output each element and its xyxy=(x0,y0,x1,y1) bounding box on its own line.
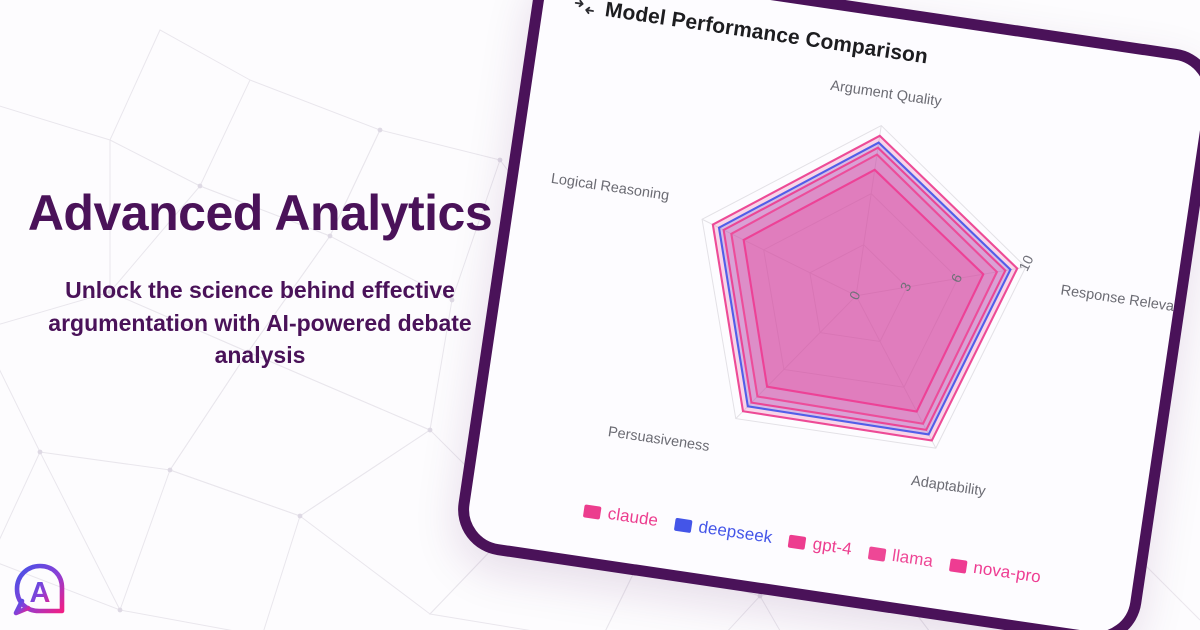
axis-label-logical-reasoning: Logical Reasoning xyxy=(550,171,670,204)
legend-item-deepseek[interactable]: deepseek xyxy=(673,514,773,548)
axis-label-response-relevance: Response Relevance xyxy=(1060,282,1199,318)
legend-label: claude xyxy=(606,504,659,531)
axis-label-persuasiveness: Persuasiveness xyxy=(607,424,711,455)
legend-item-nova-pro[interactable]: nova-pro xyxy=(948,554,1042,587)
tick-label-10: 10 xyxy=(1015,252,1036,273)
radar-series-group xyxy=(686,114,1033,450)
legend-item-gpt-4[interactable]: gpt-4 xyxy=(788,531,853,560)
legend-swatch-deepseek xyxy=(674,517,693,532)
legend-label: deepseek xyxy=(697,517,774,548)
legend-label: gpt-4 xyxy=(811,534,853,560)
legend-swatch-nova-pro xyxy=(949,558,968,573)
legend-item-claude[interactable]: claude xyxy=(583,500,660,531)
logo-letter: A xyxy=(30,577,51,609)
legend-item-llama[interactable]: llama xyxy=(867,542,934,571)
legend-swatch-gpt-4 xyxy=(788,534,807,549)
hero-banner: Advanced Analytics Unlock the science be… xyxy=(0,0,1200,630)
page-subtitle: Unlock the science behind effective argu… xyxy=(0,274,520,372)
radar-chart: 03610 Argument QualityResponse Relevance… xyxy=(476,35,1200,561)
axis-label-adaptability: Adaptability xyxy=(910,473,987,500)
radar-chart-svg: 03610 Argument QualityResponse Relevance… xyxy=(476,35,1200,561)
legend-label: llama xyxy=(891,546,935,572)
page-title: Advanced Analytics xyxy=(0,186,520,240)
legend-label: nova-pro xyxy=(972,558,1042,588)
argument-analytics-logo[interactable]: A xyxy=(12,561,68,617)
hero-copy: Advanced Analytics Unlock the science be… xyxy=(0,186,520,372)
legend-swatch-claude xyxy=(583,504,602,519)
axis-label-argument-quality: Argument Quality xyxy=(829,78,943,110)
legend-swatch-llama xyxy=(868,546,887,561)
chart-card[interactable]: Model Performance Comparison 03610 Argum… xyxy=(452,0,1200,630)
compare-arrows-icon xyxy=(572,0,597,19)
